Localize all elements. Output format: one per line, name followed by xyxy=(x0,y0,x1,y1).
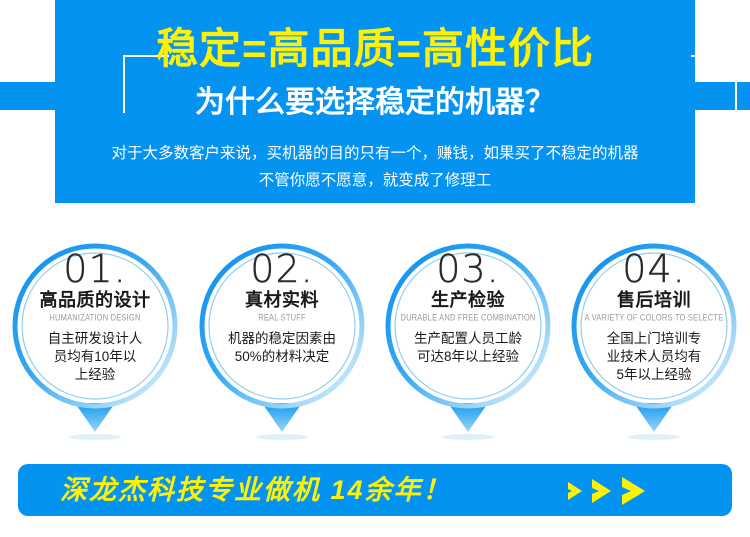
card-title: 高品质的设计 xyxy=(40,289,151,311)
card-description-line-2: 可达8年以上经验 xyxy=(402,348,534,366)
header-description-line-1: 对于大多数客户来说，买机器的目的只有一个，赚钱，如果买了不稳定的机器 xyxy=(70,140,680,167)
card-title: 生产检验 xyxy=(431,289,505,311)
card-subtitle-english: HUMANIZATION DESIGN xyxy=(49,312,140,325)
card-number: 02. xyxy=(250,250,313,288)
headline-title: 稳定=高品质=高性价比 xyxy=(55,24,695,74)
feature-card-row: 01. 高品质的设计 HUMANIZATION DESIGN 自主研发设计人 员… xyxy=(0,240,750,440)
card-content: 04. 售后培训 A VARIETY OF COLORS TO SELECTE … xyxy=(568,240,740,412)
header-tab-left xyxy=(0,82,56,110)
card-title: 售后培训 xyxy=(617,289,691,311)
card-description-line-3: 5年以上经验 xyxy=(588,366,720,384)
card-description-line-1: 生产配置人员工龄 xyxy=(402,330,534,348)
card-number: 01. xyxy=(63,250,126,288)
card-description-line-1: 自主研发设计人 xyxy=(29,330,161,348)
card-description-line-1: 机器的稳定因素由 xyxy=(216,330,348,348)
card-number: 04. xyxy=(622,250,685,288)
bottom-banner-text: 深龙杰科技专业做机 14余年！ xyxy=(60,474,452,507)
headline-subtitle: 为什么要选择稳定的机器？ xyxy=(55,84,695,122)
card-subtitle-english: A VARIETY OF COLORS TO SELECTE xyxy=(585,312,724,325)
promo-banner-page: 稳定=高品质=高性价比 为什么要选择稳定的机器？ 对于大多数客户来说，买机器的目… xyxy=(0,0,750,537)
card-description: 自主研发设计人 员均有10年以 上经验 xyxy=(29,330,161,384)
double-chevron-right-icon xyxy=(566,476,706,506)
card-content: 03. 生产检验 DURABLE AND FREE COMBINATION 生产… xyxy=(382,240,554,412)
card-description: 生产配置人员工龄 可达8年以上经验 xyxy=(402,330,534,366)
feature-card[interactable]: 03. 生产检验 DURABLE AND FREE COMBINATION 生产… xyxy=(382,240,554,440)
corner-bracket-top-right-icon xyxy=(691,55,737,113)
bottom-cta-banner[interactable]: 深龙杰科技专业做机 14余年！ xyxy=(18,464,732,516)
card-content: 01. 高品质的设计 HUMANIZATION DESIGN 自主研发设计人 员… xyxy=(9,240,181,412)
header-description-line-2: 不管你愿不愿意，就变成了修理工 xyxy=(70,167,680,194)
card-content: 02. 真材实料 REAL STUFF 机器的稳定因素由 50%的材料决定 xyxy=(196,240,368,412)
feature-card[interactable]: 04. 售后培训 A VARIETY OF COLORS TO SELECTE … xyxy=(568,240,740,440)
card-description-line-2: 业技术人员均有 xyxy=(588,348,720,366)
card-subtitle-english: REAL STUFF xyxy=(258,312,306,325)
feature-card[interactable]: 02. 真材实料 REAL STUFF 机器的稳定因素由 50%的材料决定 xyxy=(196,240,368,440)
card-subtitle-english: DURABLE AND FREE COMBINATION xyxy=(400,312,535,325)
card-description: 机器的稳定因素由 50%的材料决定 xyxy=(216,330,348,366)
card-description-line-1: 全国上门培训专 xyxy=(588,330,720,348)
card-number: 03. xyxy=(436,250,499,288)
card-title: 真材实料 xyxy=(245,289,319,311)
feature-card[interactable]: 01. 高品质的设计 HUMANIZATION DESIGN 自主研发设计人 员… xyxy=(9,240,181,440)
header-description: 对于大多数客户来说，买机器的目的只有一个，赚钱，如果买了不稳定的机器 不管你愿不… xyxy=(70,140,680,194)
card-description-line-3: 上经验 xyxy=(29,366,161,384)
card-description-line-2: 50%的材料决定 xyxy=(216,348,348,366)
card-description: 全国上门培训专 业技术人员均有 5年以上经验 xyxy=(588,330,720,384)
card-description-line-2: 员均有10年以 xyxy=(29,348,161,366)
